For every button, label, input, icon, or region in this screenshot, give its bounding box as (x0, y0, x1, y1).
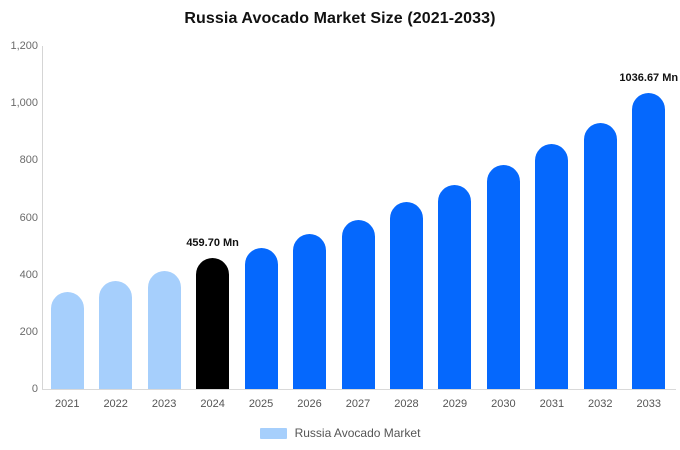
legend-swatch-russia-avocado-market (260, 428, 287, 439)
bar-2024[interactable] (196, 258, 229, 389)
bar-2032[interactable] (584, 123, 617, 389)
bar-chart: Russia Avocado Market Size (2021-2033) 0… (0, 0, 680, 450)
bar-fill (148, 271, 181, 389)
y-tick-label: 200 (2, 326, 38, 338)
x-tick-label-2032: 2032 (576, 398, 624, 410)
bar-fill (245, 248, 278, 389)
bar-2029[interactable] (438, 185, 471, 389)
bar-fill (390, 202, 423, 389)
bar-fill (584, 123, 617, 389)
y-tick-label: 800 (2, 154, 38, 166)
chart-legend: Russia Avocado Market (0, 426, 680, 440)
y-tick-label: 1,200 (2, 40, 38, 52)
x-tick-label-2033: 2033 (625, 398, 673, 410)
x-tick-label-2030: 2030 (479, 398, 527, 410)
chart-title: Russia Avocado Market Size (2021-2033) (0, 10, 680, 28)
legend-label: Russia Avocado Market (295, 426, 421, 440)
y-tick-label: 0 (2, 383, 38, 395)
x-tick-label-2027: 2027 (334, 398, 382, 410)
y-tick-label: 1,000 (2, 97, 38, 109)
bar-2023[interactable] (148, 271, 181, 389)
bar-2022[interactable] (99, 281, 132, 389)
x-tick-label-2021: 2021 (43, 398, 91, 410)
bar-fill (535, 144, 568, 389)
bar-2025[interactable] (245, 248, 278, 389)
bar-fill (632, 93, 665, 389)
bar-fill (196, 258, 229, 389)
bar-2026[interactable] (293, 234, 326, 389)
plot-area (43, 46, 673, 389)
y-axis-tick-labels: 02004006008001,0001,200 (0, 0, 38, 450)
x-tick-label-2028: 2028 (382, 398, 430, 410)
bar-fill (51, 292, 84, 389)
x-axis-line (42, 389, 676, 390)
x-tick-label-2022: 2022 (92, 398, 140, 410)
bar-2028[interactable] (390, 202, 423, 389)
bar-fill (342, 220, 375, 389)
bar-2030[interactable] (487, 165, 520, 389)
bar-fill (293, 234, 326, 389)
bar-2027[interactable] (342, 220, 375, 389)
bar-2031[interactable] (535, 144, 568, 389)
x-tick-label-2026: 2026 (286, 398, 334, 410)
x-tick-label-2025: 2025 (237, 398, 285, 410)
bar-fill (438, 185, 471, 389)
y-tick-label: 600 (2, 212, 38, 224)
bar-fill (99, 281, 132, 389)
x-tick-label-2029: 2029 (431, 398, 479, 410)
y-tick-label: 400 (2, 269, 38, 281)
x-tick-label-2031: 2031 (528, 398, 576, 410)
bar-fill (487, 165, 520, 389)
x-tick-label-2023: 2023 (140, 398, 188, 410)
x-tick-label-2024: 2024 (189, 398, 237, 410)
bar-2021[interactable] (51, 292, 84, 389)
bar-2033[interactable] (632, 93, 665, 389)
bar-value-label-2033: 1036.67 Mn (619, 72, 678, 84)
bar-value-label-2024: 459.70 Mn (186, 237, 239, 249)
